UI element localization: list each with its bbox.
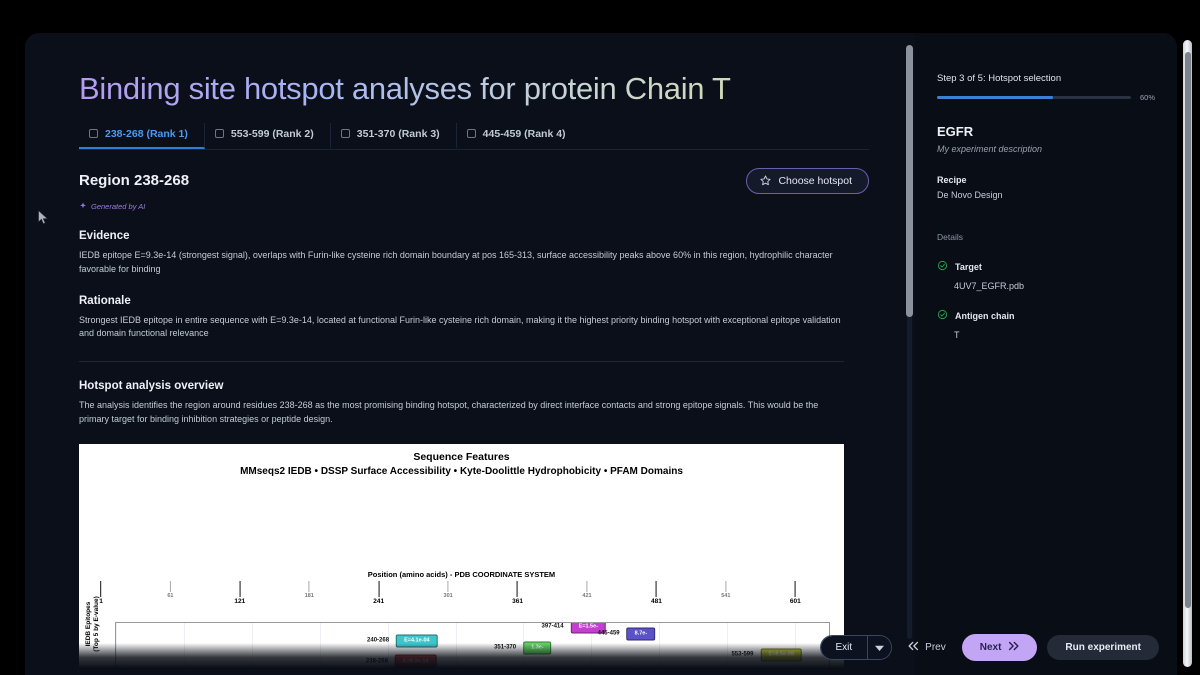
chevron-down-icon[interactable] [867, 636, 891, 659]
gridline [795, 623, 796, 669]
details-label: Details [937, 232, 1155, 242]
scrollbar-thumb[interactable] [906, 45, 913, 317]
region-header-row: Region 238-268 Choose hotspot [79, 168, 869, 194]
detail-head: Antigen chain [937, 307, 1155, 325]
tick-mark [448, 581, 449, 592]
epitope-evalue-badge: 1.3e- [523, 641, 552, 654]
epitope-marker[interactable]: 351-3701.3e- [494, 641, 552, 654]
check-circle-icon [937, 258, 948, 276]
exit-button[interactable]: Exit [821, 636, 868, 659]
tab-hotspot-rank-2[interactable]: 553-599 (Rank 2) [205, 123, 331, 149]
tick-mark [725, 581, 726, 592]
iedb-epitope-track[interactable]: 397-414E=1.5e-445-4598.7e-240-268E=4.1e-… [115, 622, 830, 669]
detail-value: T [954, 330, 1155, 340]
check-circle-icon [937, 307, 948, 325]
mouse-cursor [38, 210, 49, 230]
gridline [727, 623, 728, 669]
progress-bar-fill [937, 96, 1053, 99]
epitope-range-label: 397-414 [542, 624, 564, 630]
x-axis-tick: 241 [373, 581, 384, 605]
detail-head: Target [937, 258, 1155, 276]
epitope-range-label: 445-459 [598, 631, 620, 637]
gridline [456, 623, 457, 669]
rationale-body: Strongest IEDB epitope in entire sequenc… [79, 314, 844, 342]
prev-button[interactable]: Prev [902, 635, 952, 660]
x-axis-tick: 61 [167, 581, 173, 599]
tick-label: 421 [582, 593, 591, 599]
gridline [252, 623, 253, 669]
tab-hotspot-rank-1[interactable]: 238-268 (Rank 1) [79, 123, 205, 149]
y-axis-label: IEDB Epitopes(Top 5 by E-value) [85, 574, 101, 669]
tick-mark [309, 581, 310, 592]
epitope-range-label: 240-268 [367, 638, 389, 644]
x-axis-tick: 421 [582, 581, 591, 599]
next-button[interactable]: Next [962, 634, 1038, 661]
choose-hotspot-label: Choose hotspot [778, 175, 852, 187]
tick-label: 61 [167, 593, 173, 599]
main-scroll-area[interactable]: Binding site hotspot analyses for protei… [25, 33, 903, 675]
run-experiment-button[interactable]: Run experiment [1047, 635, 1159, 660]
detail-item-antigen-chain: Antigen chain T [937, 307, 1155, 340]
tick-label: 601 [790, 598, 801, 605]
page-title: Binding site hotspot analyses for protei… [79, 71, 903, 107]
recipe-label: Recipe [937, 175, 1155, 185]
epitope-evalue-badge: E=9.3e-14 [395, 655, 437, 668]
tab-label: 351-370 (Rank 3) [357, 128, 440, 140]
exit-button-group[interactable]: Exit [820, 635, 893, 660]
progress-percent-label: 60% [1140, 93, 1155, 102]
chevrons-left-icon [908, 641, 919, 654]
content-scrollbar[interactable] [903, 33, 915, 675]
epitope-range-label: 238-268 [366, 658, 388, 664]
gridline [320, 623, 321, 669]
x-axis-tick: 481 [651, 581, 662, 605]
sequence-features-figure[interactable]: Sequence Features MMseqs2 IEDB • DSSP Su… [79, 444, 844, 669]
detail-value: 4UV7_EGFR.pdb [954, 281, 1155, 291]
prev-label: Prev [925, 642, 946, 653]
hotspot-tab-list: 238-268 (Rank 1) 553-599 (Rank 2) 351-37… [79, 123, 869, 150]
generated-by-ai-label: Generated by AI [91, 202, 145, 211]
evidence-body: IEDB epitope E=9.3e-14 (strongest signal… [79, 249, 844, 277]
checkbox-icon[interactable] [215, 129, 224, 138]
tick-mark [517, 581, 518, 597]
x-axis-tick: 541 [721, 581, 730, 599]
sparkle-icon [79, 202, 87, 212]
window-scrollbar-thumb[interactable] [1185, 52, 1191, 608]
epitope-range-label: 351-370 [494, 645, 516, 651]
tick-label: 301 [444, 593, 453, 599]
figure-title-block: Sequence Features MMseqs2 IEDB • DSSP Su… [79, 450, 844, 480]
gridline [659, 623, 660, 669]
experiment-name: EGFR [937, 124, 1155, 139]
tab-hotspot-rank-4[interactable]: 445-459 (Rank 4) [457, 123, 582, 149]
tick-mark [170, 581, 171, 592]
tick-mark [656, 581, 657, 597]
figure-subtitle: MMseqs2 IEDB • DSSP Surface Accessibilit… [79, 465, 844, 480]
generated-by-ai-note: Generated by AI [79, 202, 903, 212]
x-axis-tick: 601 [790, 581, 801, 605]
tab-label: 238-268 (Rank 1) [105, 128, 188, 140]
tick-label: 241 [373, 598, 384, 605]
checkbox-icon[interactable] [467, 129, 476, 138]
detail-item-target: Target 4UV7_EGFR.pdb [937, 258, 1155, 291]
x-axis-tick: 121 [234, 581, 245, 605]
x-axis-tick: 181 [305, 581, 314, 599]
epitope-marker[interactable]: 240-268E=4.1e-04 [367, 634, 438, 647]
detail-key: Antigen chain [955, 311, 1015, 321]
tick-mark [378, 581, 379, 597]
region-title: Region 238-268 [79, 172, 189, 189]
epitope-track-wrapper: IEDB Epitopes(Top 5 by E-value) 397-414E… [101, 622, 830, 669]
epitope-marker[interactable]: 238-268E=9.3e-14 [366, 655, 437, 668]
evidence-heading: Evidence [79, 230, 903, 242]
epitope-evalue-badge: E=8.5e-08 [760, 648, 802, 661]
chevrons-right-icon [1008, 641, 1019, 654]
window-body: Binding site hotspot analyses for protei… [25, 33, 1177, 675]
overview-heading: Hotspot analysis overview [79, 380, 903, 392]
epitope-marker[interactable]: 445-4598.7e- [598, 627, 656, 640]
x-axis-tick: 361 [512, 581, 523, 605]
application-window: Binding site hotspot analyses for protei… [25, 33, 1177, 675]
progress-bar-track [937, 96, 1131, 99]
window-scrollbar[interactable] [1183, 40, 1192, 667]
tick-label: 181 [305, 593, 314, 599]
progress-row: 60% [937, 93, 1155, 102]
step-label: Step 3 of 5: Hotspot selection [937, 73, 1155, 84]
rationale-heading: Rationale [79, 295, 903, 307]
tick-label: 121 [234, 598, 245, 605]
tick-mark [587, 581, 588, 592]
detail-key: Target [955, 262, 982, 272]
star-icon [760, 175, 771, 186]
main-content-column: Binding site hotspot analyses for protei… [25, 33, 903, 675]
epitope-marker[interactable]: 553-599E=8.5e-08 [731, 648, 802, 661]
epitope-marker[interactable]: 397-414E=1.5e- [542, 622, 606, 633]
tab-label: 445-459 (Rank 4) [483, 128, 566, 140]
section-divider [79, 361, 844, 362]
gridline [116, 623, 117, 669]
tick-mark [239, 581, 240, 597]
tab-label: 553-599 (Rank 2) [231, 128, 314, 140]
tick-label: 541 [721, 593, 730, 599]
epitope-evalue-badge: E=4.1e-04 [396, 634, 438, 647]
right-sidebar: Step 3 of 5: Hotspot selection 60% EGFR … [915, 33, 1177, 675]
x-axis-label: Position (amino acids) - PDB COORDINATE … [79, 570, 844, 579]
checkbox-icon[interactable] [89, 129, 98, 138]
recipe-value: De Novo Design [937, 190, 1155, 200]
gridline [184, 623, 185, 669]
overview-body: The analysis identifies the region aroun… [79, 399, 844, 427]
figure-title: Sequence Features [79, 450, 844, 465]
tick-mark [795, 581, 796, 597]
choose-hotspot-button[interactable]: Choose hotspot [746, 168, 869, 194]
experiment-description: My experiment description [937, 144, 1155, 154]
epitope-evalue-badge: 8.7e- [627, 627, 656, 640]
next-label: Next [980, 642, 1002, 653]
epitope-range-label: 553-599 [731, 652, 753, 658]
action-bar: Exit Prev Next [820, 634, 1160, 661]
checkbox-icon[interactable] [341, 129, 350, 138]
x-axis-ticks: 161121181241301361421481541601 [101, 581, 830, 609]
tick-label: 361 [512, 598, 523, 605]
tab-hotspot-rank-3[interactable]: 351-370 (Rank 3) [331, 123, 457, 149]
x-axis-tick: 301 [444, 581, 453, 599]
tick-label: 481 [651, 598, 662, 605]
